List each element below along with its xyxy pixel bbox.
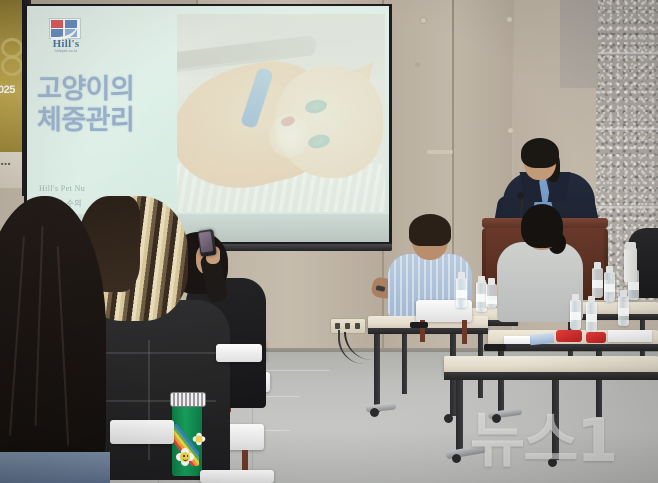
water-bottle bbox=[456, 278, 467, 308]
banner-ring-icon bbox=[1, 38, 23, 58]
paper-handout bbox=[608, 330, 652, 342]
desk-surface bbox=[216, 344, 262, 362]
water-bottle bbox=[486, 284, 497, 308]
speaker-hair bbox=[521, 138, 559, 168]
granite-seam bbox=[596, 128, 658, 130]
banner-ring-icon bbox=[1, 56, 23, 76]
table-leg bbox=[402, 326, 407, 394]
desk-surface bbox=[200, 470, 274, 483]
audience-jeans bbox=[0, 452, 110, 483]
audience-hair bbox=[409, 214, 451, 246]
tumbler-lid bbox=[170, 392, 206, 407]
hills-mark-icon bbox=[49, 18, 81, 39]
slide-title-line1: 고양이의 bbox=[37, 74, 187, 105]
wall-fixing-dot bbox=[415, 62, 420, 67]
smartphone-on-table bbox=[410, 322, 428, 328]
wall-trim bbox=[427, 150, 453, 154]
hills-brand-url: hillspet.co.kr bbox=[45, 49, 87, 53]
banner-year-text: 025 bbox=[0, 84, 24, 96]
tumbler-daisy-icon bbox=[176, 448, 194, 466]
thermos bbox=[624, 248, 637, 282]
table-leg bbox=[374, 334, 380, 412]
slide-title: 고양이의 체중관리 bbox=[37, 74, 187, 137]
slide-title-line2: 체중관리 bbox=[37, 105, 187, 136]
desk-surface bbox=[110, 420, 174, 444]
granite-wall-upper bbox=[560, 0, 598, 88]
slide-subtitle: Hill's Pet Nu bbox=[39, 184, 199, 193]
paper-handout bbox=[504, 336, 530, 344]
projection-screen: Hill's hillspet.co.kr 고양이의 체중관리 Hill's P… bbox=[27, 6, 389, 242]
event-banner: 025 bbox=[0, 0, 24, 152]
water-bottle bbox=[604, 272, 615, 302]
audience-hair bbox=[521, 204, 563, 248]
water-bottle bbox=[570, 300, 581, 330]
tumbler-daisy-icon bbox=[193, 433, 206, 446]
granite-seam bbox=[596, 52, 658, 54]
slide-cat-photo bbox=[177, 14, 385, 212]
red-item bbox=[556, 330, 582, 342]
banner-footer: ■ ■ ■ bbox=[0, 152, 24, 188]
table-leg bbox=[552, 380, 559, 460]
table-leg bbox=[456, 380, 463, 456]
red-item bbox=[586, 332, 606, 343]
smartphone-on-table bbox=[484, 344, 506, 351]
wall-fixing-dot bbox=[507, 17, 512, 22]
wall-fixing-dot bbox=[508, 128, 513, 133]
news-photograph: 025 ■ ■ ■ Hill's hillspet.co.kr bbox=[0, 0, 658, 483]
water-bottle bbox=[592, 268, 603, 298]
water-bottle bbox=[586, 302, 597, 332]
banner-footer-text: ■ ■ ■ bbox=[1, 162, 10, 166]
smartphone-screen[interactable] bbox=[199, 231, 214, 252]
audience-foreground-dark-hair bbox=[0, 196, 106, 483]
hills-logo-icon: Hill's hillspet.co.kr bbox=[45, 18, 87, 58]
granite-seam bbox=[596, 206, 658, 208]
wall-fixing-dot bbox=[421, 18, 426, 23]
microphone-head-icon bbox=[517, 192, 524, 199]
water-bottle bbox=[618, 296, 629, 326]
